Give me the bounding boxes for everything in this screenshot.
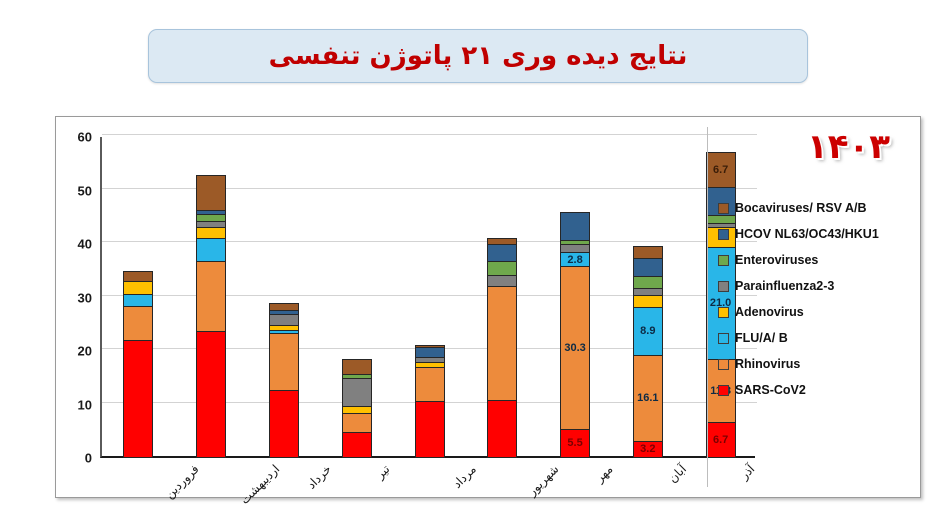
bar-segment[interactable] xyxy=(269,310,299,314)
bar-segment[interactable] xyxy=(415,347,445,357)
bar-segment[interactable] xyxy=(269,390,299,458)
bar-value-label: 8.9 xyxy=(634,325,662,337)
bar-segment[interactable] xyxy=(196,175,226,210)
x-axis: فروردیناردیبهشتخردادتیرمردادشهریورمهرآبا… xyxy=(100,458,755,503)
legend-swatch-icon xyxy=(718,307,729,318)
bar-segment[interactable] xyxy=(560,244,590,252)
bar-segment[interactable]: 6.7 xyxy=(706,152,736,188)
legend-item[interactable]: HCOV NL63/OC43/HKU1 xyxy=(718,221,918,247)
bar-segment[interactable] xyxy=(633,288,663,295)
legend-label: FLU/A/ B xyxy=(735,331,788,345)
bar-segment[interactable] xyxy=(633,246,663,258)
bar-value-label: 30.3 xyxy=(561,342,589,354)
x-tick-label: آذر xyxy=(737,462,757,482)
title-banner: نتایج دیده وری ۲۱ پاتوژن تنفسی xyxy=(148,29,808,83)
bar-value-label: 16.1 xyxy=(634,392,662,404)
legend-swatch-icon xyxy=(718,255,729,266)
legend-label: HCOV NL63/OC43/HKU1 xyxy=(735,227,879,241)
bar-value-label: 3.2 xyxy=(634,443,662,455)
bar-segment[interactable] xyxy=(560,212,590,240)
x-tick-label: فروردین xyxy=(163,462,202,501)
legend-label: SARS-CoV2 xyxy=(735,383,806,397)
bar-segment[interactable] xyxy=(269,330,299,333)
y-tick-label: 30 xyxy=(78,290,92,305)
bar-segment[interactable] xyxy=(269,325,299,330)
legend-label: Bocaviruses/ RSV A/B xyxy=(735,201,867,215)
bar-segment[interactable] xyxy=(123,294,153,306)
bar-segment[interactable] xyxy=(415,367,445,401)
bar-segment[interactable] xyxy=(633,295,663,307)
legend-label: Rhinovirus xyxy=(735,357,800,371)
legend-label: Adenovirus xyxy=(735,305,804,319)
legend-item[interactable]: Rhinovirus xyxy=(718,351,918,377)
bar-segment[interactable] xyxy=(487,244,517,261)
bar-column[interactable] xyxy=(196,175,226,458)
legend-divider xyxy=(707,127,708,487)
bar-value-label: 2.8 xyxy=(561,254,589,266)
bar-segment[interactable]: 6.7 xyxy=(706,422,736,458)
x-tick-label: اردیبهشت xyxy=(238,462,283,507)
x-tick-label: شهریور xyxy=(525,462,561,498)
chart-legend: Bocaviruses/ RSV A/BHCOV NL63/OC43/HKU1E… xyxy=(718,195,918,403)
legend-swatch-icon xyxy=(718,229,729,240)
bar-segment[interactable] xyxy=(415,362,445,367)
legend-label: Parainfluenza2-3 xyxy=(735,279,834,293)
bar-segment[interactable]: 8.9 xyxy=(633,307,663,355)
bar-segment[interactable] xyxy=(269,314,299,325)
x-tick-label: تیر xyxy=(373,462,393,482)
bars-layer: 5.530.32.83.216.18.96.711.821.06.7 xyxy=(102,137,757,458)
bar-segment[interactable] xyxy=(342,413,372,433)
legend-item[interactable]: FLU/A/ B xyxy=(718,325,918,351)
y-tick-label: 60 xyxy=(78,130,92,145)
page-title: نتایج دیده وری ۲۱ پاتوژن تنفسی xyxy=(269,41,688,71)
bar-segment[interactable] xyxy=(123,340,153,458)
bar-column[interactable] xyxy=(415,345,445,458)
legend-swatch-icon xyxy=(718,385,729,396)
legend-swatch-icon xyxy=(718,359,729,370)
bar-segment[interactable] xyxy=(415,401,445,458)
bar-value-label: 6.7 xyxy=(707,164,735,176)
legend-item[interactable]: Enteroviruses xyxy=(718,247,918,273)
bar-segment[interactable] xyxy=(487,286,517,400)
bar-segment[interactable] xyxy=(123,281,153,294)
legend-swatch-icon xyxy=(718,203,729,214)
legend-item[interactable]: SARS-CoV2 xyxy=(718,377,918,403)
bar-column[interactable] xyxy=(123,271,153,458)
y-axis: 0102030405060 xyxy=(56,117,96,499)
y-tick-label: 0 xyxy=(85,451,92,466)
bar-segment[interactable] xyxy=(196,210,226,214)
bar-column[interactable]: 5.530.32.8 xyxy=(560,212,590,458)
bar-column[interactable] xyxy=(342,359,372,458)
bar-column[interactable] xyxy=(269,303,299,458)
gridline xyxy=(102,134,757,135)
legend-swatch-icon xyxy=(718,333,729,344)
bar-value-label: 5.5 xyxy=(561,437,589,449)
bar-segment[interactable] xyxy=(415,357,445,362)
bar-segment[interactable] xyxy=(487,261,517,275)
y-tick-label: 50 xyxy=(78,183,92,198)
bar-segment[interactable] xyxy=(196,221,226,227)
y-tick-label: 40 xyxy=(78,237,92,252)
y-tick-label: 10 xyxy=(78,397,92,412)
bar-segment[interactable] xyxy=(196,331,226,458)
bar-segment[interactable] xyxy=(123,306,153,340)
bar-segment[interactable] xyxy=(342,406,372,412)
x-tick-label: مهر xyxy=(592,462,615,485)
x-tick-label: خرداد xyxy=(304,462,334,492)
y-tick-label: 20 xyxy=(78,344,92,359)
x-tick-label: آبان xyxy=(665,462,688,485)
bar-segment[interactable]: 16.1 xyxy=(633,355,663,441)
legend-item[interactable]: Parainfluenza2-3 xyxy=(718,273,918,299)
bar-segment[interactable] xyxy=(342,359,372,374)
bar-segment[interactable]: 2.8 xyxy=(560,252,590,267)
bar-segment[interactable] xyxy=(196,238,226,260)
plot-area: 5.530.32.83.216.18.96.711.821.06.7 xyxy=(100,137,755,458)
bar-segment[interactable] xyxy=(269,333,299,389)
chart-frame: ۱۴۰۳ 0102030405060 5.530.32.83.216.18.96… xyxy=(55,116,921,498)
bar-segment[interactable] xyxy=(342,378,372,406)
bar-segment[interactable]: 30.3 xyxy=(560,266,590,428)
bar-segment[interactable] xyxy=(196,227,226,238)
bar-segment[interactable] xyxy=(123,271,153,281)
slide-canvas: نتایج دیده وری ۲۱ پاتوژن تنفسی ۱۴۰۳ 0102… xyxy=(0,0,933,522)
bar-segment[interactable] xyxy=(196,261,226,332)
bar-segment[interactable] xyxy=(487,275,517,286)
x-tick-label: مرداد xyxy=(449,462,478,491)
bar-column[interactable] xyxy=(487,238,517,458)
bar-segment[interactable] xyxy=(342,432,372,458)
legend-item[interactable]: Adenovirus xyxy=(718,299,918,325)
bar-segment[interactable] xyxy=(560,240,590,243)
bar-segment[interactable]: 5.5 xyxy=(560,429,590,458)
bar-segment[interactable] xyxy=(342,374,372,378)
bar-segment[interactable] xyxy=(487,238,517,244)
legend-swatch-icon xyxy=(718,281,729,292)
bar-segment[interactable] xyxy=(269,303,299,309)
legend-label: Enteroviruses xyxy=(735,253,818,267)
bar-segment[interactable] xyxy=(415,345,445,348)
legend-item[interactable]: Bocaviruses/ RSV A/B xyxy=(718,195,918,221)
bar-segment[interactable] xyxy=(633,258,663,276)
bar-segment[interactable] xyxy=(633,276,663,288)
bar-segment[interactable] xyxy=(487,400,517,458)
bar-segment[interactable]: 3.2 xyxy=(633,441,663,458)
bar-segment[interactable] xyxy=(196,214,226,221)
bar-value-label: 6.7 xyxy=(707,434,735,446)
bar-column[interactable]: 3.216.18.9 xyxy=(633,246,663,458)
